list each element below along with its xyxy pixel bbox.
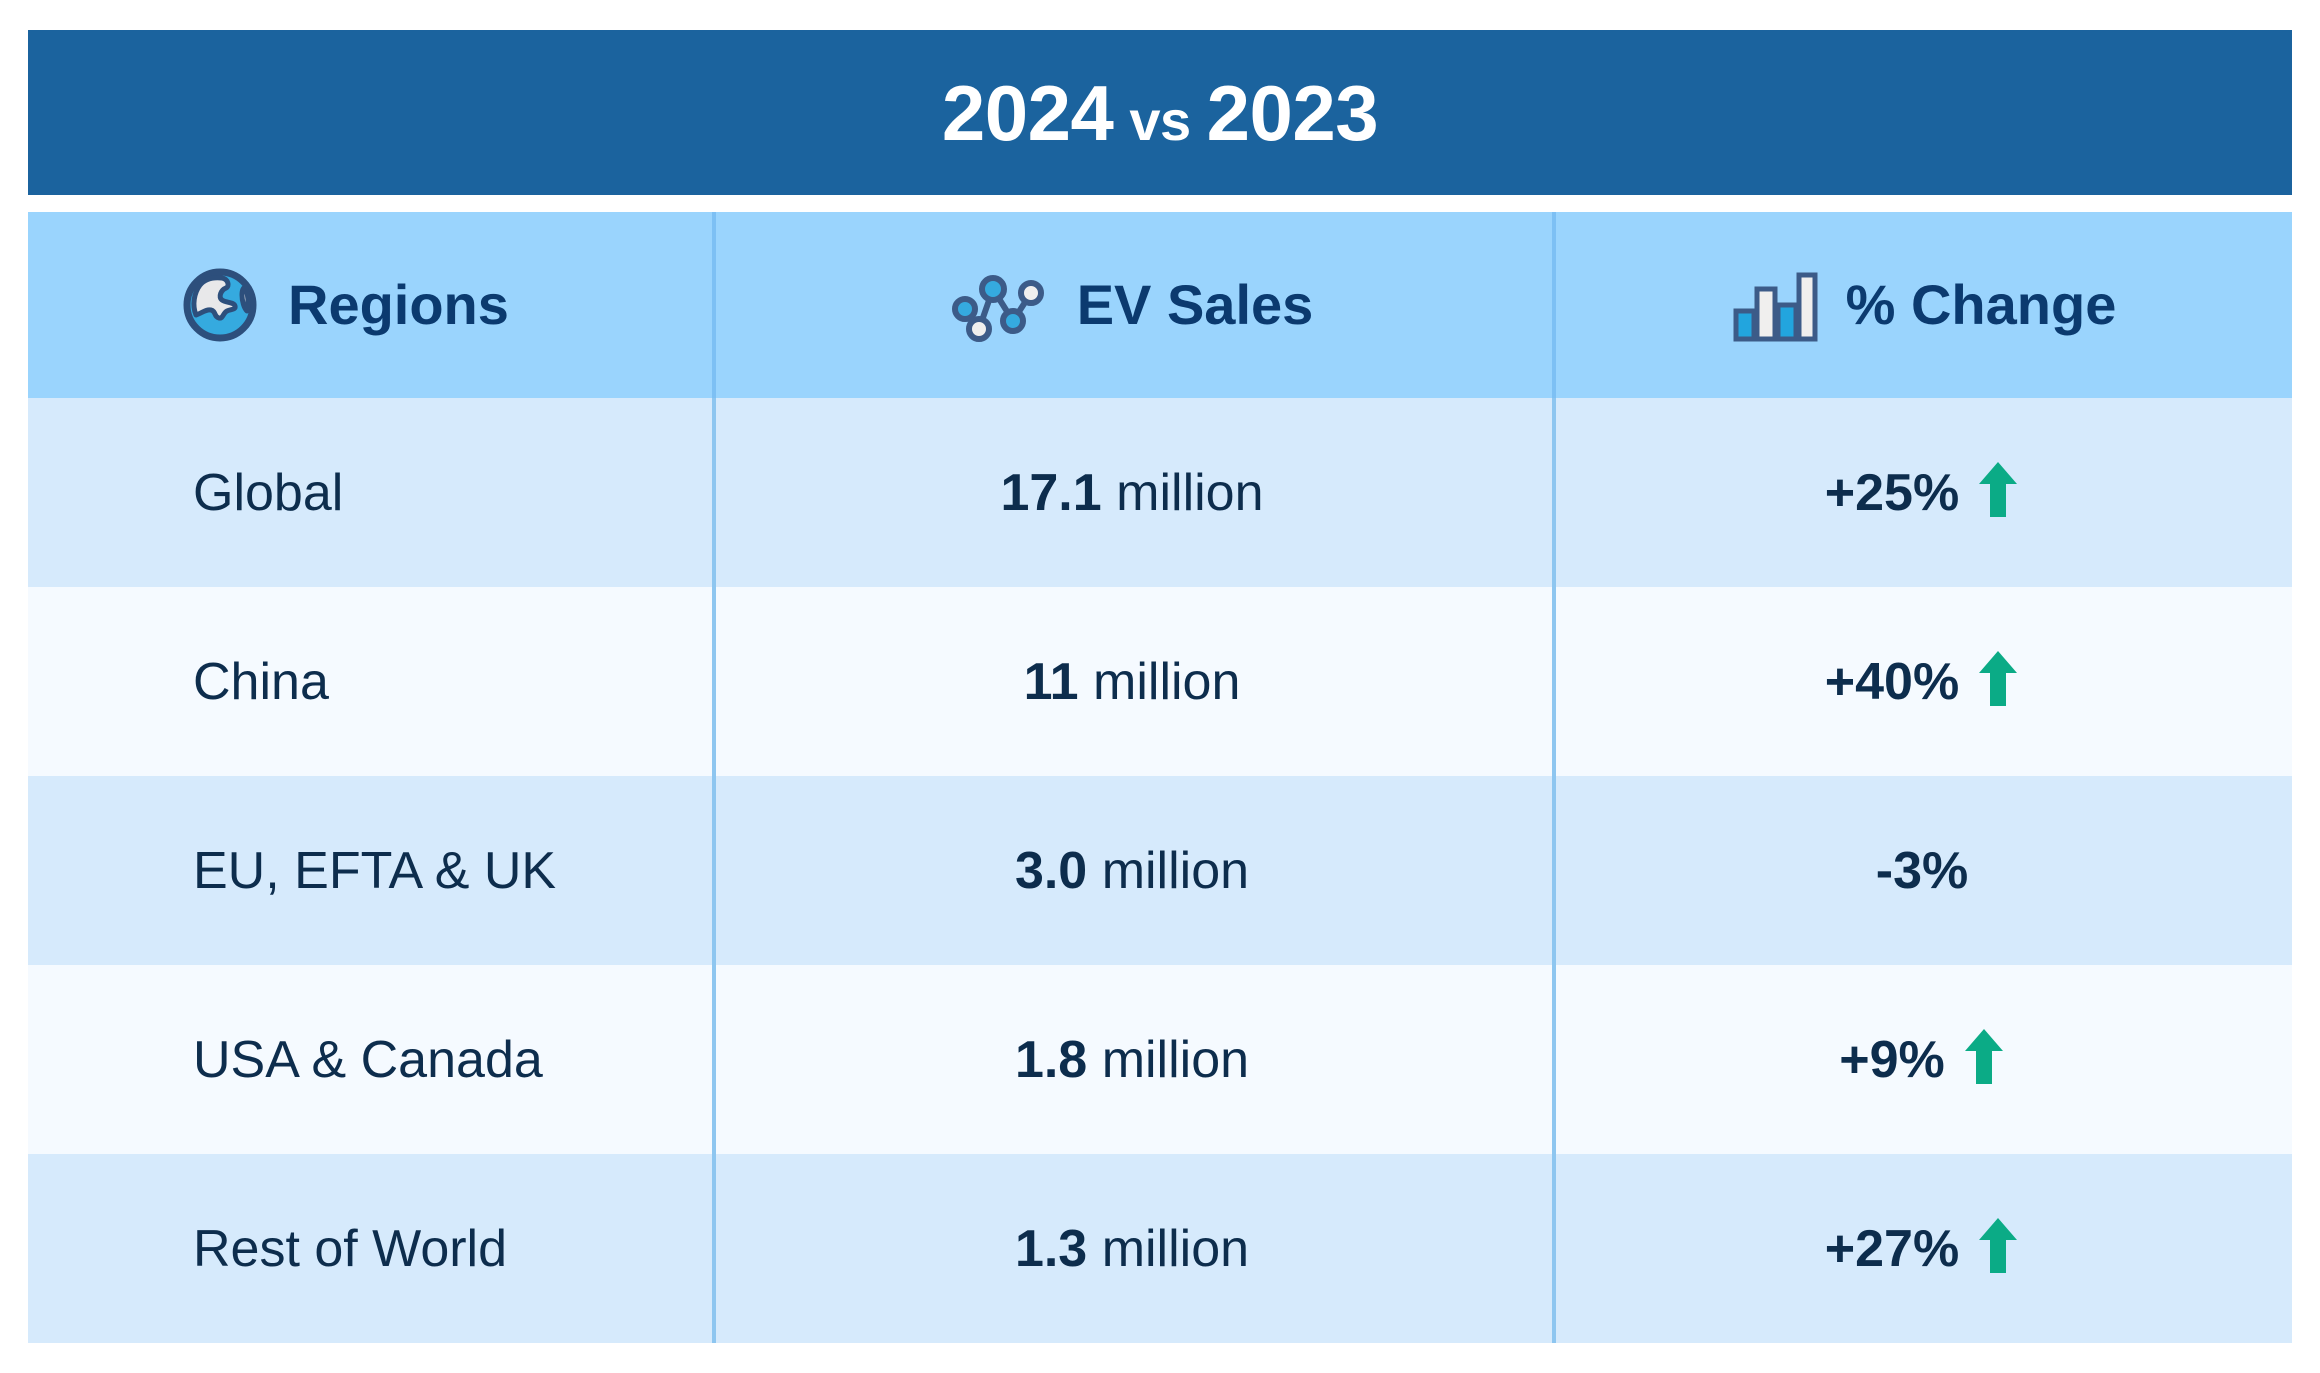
cell-ev-sales: 3.0 million	[712, 776, 1552, 965]
title-year-previous: 2023	[1207, 74, 1379, 152]
table-row[interactable]: USA & Canada 1.8 million +9%	[28, 965, 2292, 1154]
cell-ev-sales: 17.1 million	[712, 398, 1552, 587]
comparison-table: Regions EV Sales	[28, 212, 2292, 1342]
column-header-percent-change-label: % Change	[1846, 277, 2117, 333]
arrow-up-icon	[1963, 1027, 2005, 1092]
ev-sales-unit: million	[1102, 1220, 1249, 1278]
cell-ev-sales: 1.8 million	[712, 965, 1552, 1154]
ev-sales-number: 3.0	[1015, 842, 1087, 900]
arrow-up-icon	[1977, 649, 2019, 714]
ev-sales-number: 1.3	[1015, 1220, 1087, 1278]
cell-percent-change: +9%	[1552, 965, 2292, 1154]
region-label: China	[193, 656, 329, 708]
column-header-percent-change[interactable]: % Change	[1552, 212, 2292, 398]
ev-sales-unit: million	[1102, 842, 1249, 900]
infographic-table-page: 2024 vs 2023 Regions	[0, 0, 2320, 1373]
title-bar: 2024 vs 2023	[28, 30, 2292, 195]
arrow-up-icon	[1977, 1216, 2019, 1281]
ev-sales-value: 1.8 million	[1015, 1034, 1249, 1086]
ev-sales-number: 1.8	[1015, 1031, 1087, 1089]
ev-sales-unit: million	[1093, 653, 1240, 711]
table-row[interactable]: Global 17.1 million +25%	[28, 398, 2292, 587]
percent-change-value: +25%	[1825, 467, 1959, 519]
ev-sales-value: 3.0 million	[1015, 845, 1249, 897]
region-label: EU, EFTA & UK	[193, 845, 556, 897]
cell-region: Global	[28, 398, 712, 587]
cell-percent-change: +40%	[1552, 587, 2292, 776]
column-header-regions-label: Regions	[288, 277, 509, 333]
page-title: 2024 vs 2023	[942, 74, 1378, 152]
arrow-up-icon	[1977, 460, 2019, 525]
ev-sales-number: 11	[1024, 653, 1079, 711]
column-header-ev-sales[interactable]: EV Sales	[712, 212, 1552, 398]
cell-region: EU, EFTA & UK	[28, 776, 712, 965]
ev-sales-value: 1.3 million	[1015, 1223, 1249, 1275]
percent-change-value: +9%	[1839, 1034, 1945, 1086]
percent-change-value: +27%	[1825, 1223, 1959, 1275]
globe-icon	[178, 263, 262, 347]
ev-sales-number: 17.1	[1000, 464, 1101, 522]
title-vs-label: vs	[1129, 93, 1190, 149]
table-header-row: Regions EV Sales	[28, 212, 2292, 398]
percent-change-value: -3%	[1876, 845, 1968, 897]
percent-change-value: +40%	[1825, 656, 1959, 708]
column-header-regions[interactable]: Regions	[28, 212, 712, 398]
table-row[interactable]: Rest of World 1.3 million +27%	[28, 1154, 2292, 1343]
ev-sales-unit: million	[1102, 1031, 1249, 1089]
table-row[interactable]: China 11 million +40%	[28, 587, 2292, 776]
table-row[interactable]: EU, EFTA & UK 3.0 million -3%	[28, 776, 2292, 965]
cell-region: Rest of World	[28, 1154, 712, 1343]
region-label: USA & Canada	[193, 1034, 543, 1086]
region-label: Global	[193, 467, 343, 519]
title-year-current: 2024	[942, 74, 1114, 152]
ev-sales-value: 11 million	[1024, 656, 1241, 708]
region-label: Rest of World	[193, 1223, 507, 1275]
bar-chart-icon	[1728, 263, 1820, 347]
cell-region: China	[28, 587, 712, 776]
cell-ev-sales: 1.3 million	[712, 1154, 1552, 1343]
cell-percent-change: +27%	[1552, 1154, 2292, 1343]
column-header-ev-sales-label: EV Sales	[1077, 277, 1314, 333]
ev-sales-value: 17.1 million	[1000, 467, 1263, 519]
cell-region: USA & Canada	[28, 965, 712, 1154]
cell-percent-change: +25%	[1552, 398, 2292, 587]
cell-percent-change: -3%	[1552, 776, 2292, 965]
ev-sales-unit: million	[1116, 464, 1263, 522]
line-chart-icon	[951, 263, 1051, 347]
cell-ev-sales: 11 million	[712, 587, 1552, 776]
